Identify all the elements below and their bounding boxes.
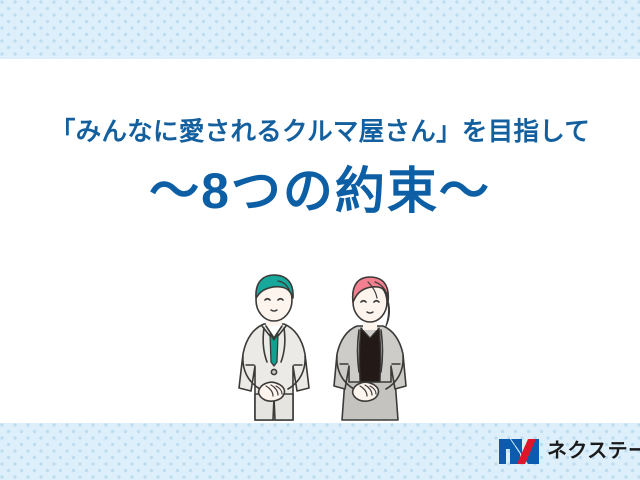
- brand-name-label: ネクステージ: [547, 441, 640, 461]
- male-staff-figure: [239, 275, 309, 420]
- headline-group: 「みんなに愛されるクルマ屋さん」を目指して 〜8つの約束〜: [0, 118, 640, 221]
- promo-banner: 「みんなに愛されるクルマ屋さん」を目指して 〜8つの約束〜: [0, 0, 640, 480]
- brand-logo: ネクステージ: [498, 436, 640, 466]
- top-polka-dot-band: [0, 0, 640, 59]
- nextage-n-mark-icon: [498, 438, 540, 465]
- female-staff-figure: [334, 277, 406, 420]
- headline-subtitle: 「みんなに愛されるクルマ屋さん」を目指して: [0, 118, 640, 146]
- two-bowing-staff-illustration: [218, 262, 423, 424]
- headline-title: 〜8つの約束〜: [0, 162, 640, 221]
